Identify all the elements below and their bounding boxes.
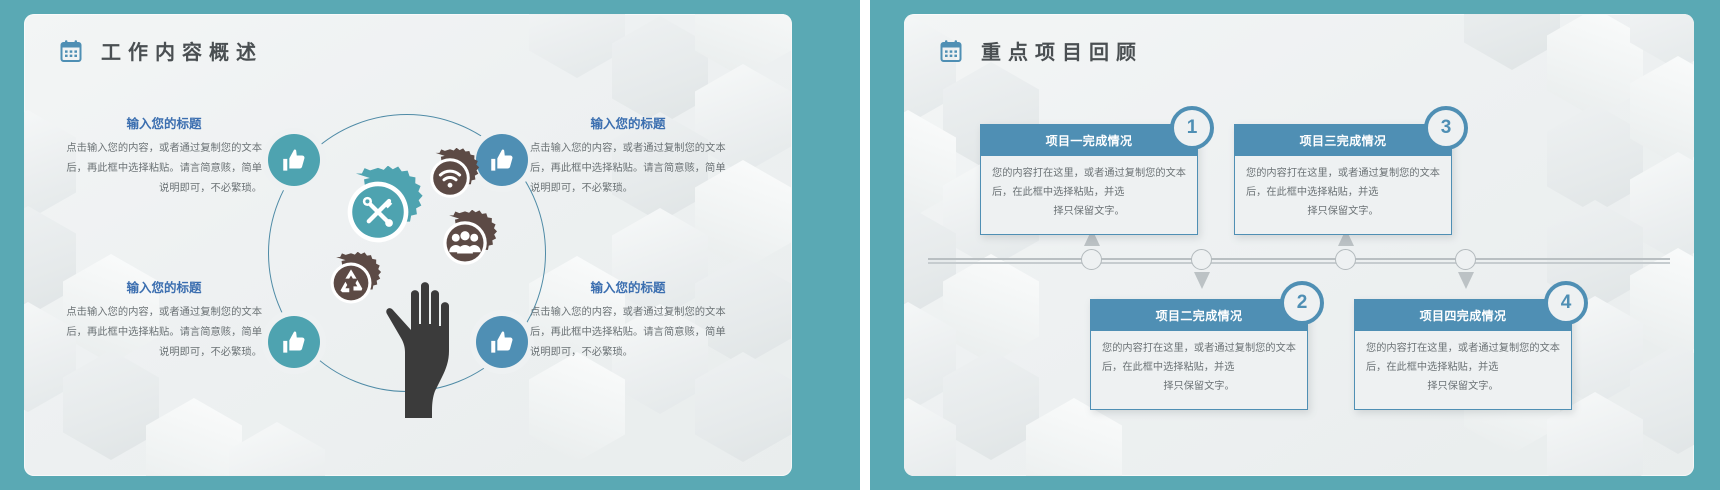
gear-people-icon	[432, 210, 498, 276]
timeline-track-shadow	[928, 262, 1670, 264]
text-block-top-right: 输入您的标题 点击输入您的内容，或者通过复制您的文本后，再此框中选择粘贴。请言简…	[530, 118, 726, 199]
card-heading: 项目二完成情况	[1090, 299, 1308, 331]
timeline-arrow-down-4	[1458, 272, 1474, 289]
slide-divider	[860, 0, 870, 490]
page-title: 工作内容概述	[101, 36, 263, 65]
project-card-3[interactable]: 项目三完成情况 您的内容打在这里，或者通过复制您的文本后，在此框中选择粘贴，并选…	[1234, 124, 1452, 235]
text-block-bottom-left: 输入您的标题 点击输入您的内容，或者通过复制您的文本后，再此框中选择粘贴。请言简…	[66, 282, 262, 363]
slide-work-overview: 工作内容概述 输入您的标题 点击输入您的内容，或者通过复制您的文本后，再此框中选…	[0, 0, 860, 490]
project-badge-4: 4	[1544, 281, 1588, 325]
thumbs-up-icon	[268, 316, 320, 368]
card-body: 您的内容打在这里，或者通过复制您的文本后，在此框中选择粘贴，并选择只保留文字。	[1234, 156, 1452, 235]
text-block-top-left: 输入您的标题 点击输入您的内容，或者通过复制您的文本后，再此框中选择粘贴。请言简…	[66, 118, 262, 199]
slide-key-project-review: 重点项目回顾 项目一完成情况 您的内容打在这里，或者通过复制您的文本后，在此框中…	[860, 0, 1720, 490]
slide-canvas-right: 重点项目回顾 项目一完成情况 您的内容打在这里，或者通过复制您的文本后，在此框中…	[904, 14, 1694, 476]
gear-tools-icon	[332, 166, 424, 258]
timeline-arrow-down-2	[1194, 272, 1210, 289]
card-body-text: 您的内容打在这里，或者通过复制您的文本后，在此框中选择粘贴，并选	[1102, 343, 1296, 373]
card-body-last-line: 择只保留文字。	[1366, 378, 1560, 397]
text-block-bottom-right: 输入您的标题 点击输入您的内容，或者通过复制您的文本后，再此框中选择粘贴。请言简…	[530, 282, 726, 363]
project-timeline	[928, 258, 1670, 261]
timeline-node-3[interactable]	[1335, 249, 1356, 270]
card-body-text: 您的内容打在这里，或者通过复制您的文本后，在此框中选择粘贴，并选	[1246, 168, 1440, 198]
block-body: 点击输入您的内容，或者通过复制您的文本后，再此框中选择粘贴。请言简意赅，简单说明…	[530, 303, 726, 363]
hand-reaching-icon	[371, 278, 467, 418]
page-title: 重点项目回顾	[981, 36, 1143, 65]
thumbs-up-icon	[476, 134, 528, 186]
header-left: 工作内容概述	[58, 36, 263, 65]
card-body-last-line: 择只保留文字。	[1102, 378, 1296, 397]
timeline-node-1[interactable]	[1081, 249, 1102, 270]
block-heading: 输入您的标题	[530, 118, 726, 132]
block-body: 点击输入您的内容，或者通过复制您的文本后，再此框中选择粘贴。请言简意赅，简单说明…	[530, 139, 726, 199]
card-body-text: 您的内容打在这里，或者通过复制您的文本后，在此框中选择粘贴，并选	[1366, 343, 1560, 373]
card-body-last-line: 择只保留文字。	[1246, 203, 1440, 222]
thumbs-up-icon	[268, 134, 320, 186]
block-body: 点击输入您的内容，或者通过复制您的文本后，再此框中选择粘贴。请言简意赅，简单说明…	[66, 139, 262, 199]
card-body: 您的内容打在这里，或者通过复制您的文本后，在此框中选择粘贴，并选择只保留文字。	[1090, 331, 1308, 410]
calendar-icon	[58, 38, 84, 64]
project-card-2[interactable]: 项目二完成情况 您的内容打在这里，或者通过复制您的文本后，在此框中选择粘贴，并选…	[1090, 299, 1308, 410]
gear-wifi-icon	[420, 148, 480, 208]
project-badge-3: 3	[1424, 106, 1468, 150]
thumbs-up-icon	[476, 316, 528, 368]
card-body-last-line: 择只保留文字。	[992, 203, 1186, 222]
timeline-node-2[interactable]	[1191, 249, 1212, 270]
project-card-4[interactable]: 项目四完成情况 您的内容打在这里，或者通过复制您的文本后，在此框中选择粘贴，并选…	[1354, 299, 1572, 410]
card-body: 您的内容打在这里，或者通过复制您的文本后，在此框中选择粘贴，并选择只保留文字。	[980, 156, 1198, 235]
calendar-icon	[938, 38, 964, 64]
card-heading: 项目四完成情况	[1354, 299, 1572, 331]
block-body: 点击输入您的内容，或者通过复制您的文本后，再此框中选择粘贴。请言简意赅，简单说明…	[66, 303, 262, 363]
card-body: 您的内容打在这里，或者通过复制您的文本后，在此框中选择粘贴，并选择只保留文字。	[1354, 331, 1572, 410]
project-badge-2: 2	[1280, 281, 1324, 325]
card-heading: 项目三完成情况	[1234, 124, 1452, 156]
project-card-1[interactable]: 项目一完成情况 您的内容打在这里，或者通过复制您的文本后，在此框中选择粘贴，并选…	[980, 124, 1198, 235]
block-heading: 输入您的标题	[66, 282, 262, 296]
header-right: 重点项目回顾	[938, 36, 1143, 65]
project-badge-1: 1	[1170, 106, 1214, 150]
timeline-track	[928, 258, 1670, 260]
slide-canvas-left: 工作内容概述 输入您的标题 点击输入您的内容，或者通过复制您的文本后，再此框中选…	[24, 14, 792, 476]
card-heading: 项目一完成情况	[980, 124, 1198, 156]
central-graphic	[246, 100, 570, 430]
block-heading: 输入您的标题	[66, 118, 262, 132]
card-body-text: 您的内容打在这里，或者通过复制您的文本后，在此框中选择粘贴，并选	[992, 168, 1186, 198]
slides-stage: 工作内容概述 输入您的标题 点击输入您的内容，或者通过复制您的文本后，再此框中选…	[0, 0, 1720, 490]
timeline-node-4[interactable]	[1455, 249, 1476, 270]
block-heading: 输入您的标题	[530, 282, 726, 296]
